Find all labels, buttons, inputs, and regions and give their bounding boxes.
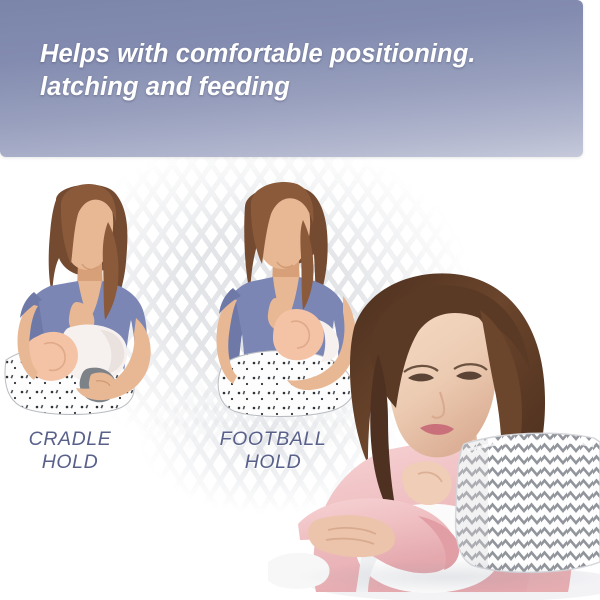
chevron-nursing-pillow [448,422,600,582]
headline-text: Helps with comfortable positioning. latc… [40,38,550,104]
caption-cradle-hold: CRADLE HOLD [8,428,132,474]
photo-bottom-shadow [300,560,600,594]
product-feature-image: Helps with comfortable positioning. latc… [0,0,600,600]
headline-banner: Helps with comfortable positioning. latc… [0,0,583,157]
illustration-cradle-hold [4,178,176,426]
headline-line-1: Helps with comfortable positioning. [40,40,476,68]
headline-line-2: latching and feeding [40,71,550,104]
product-photo-mother-and-baby [268,262,600,600]
